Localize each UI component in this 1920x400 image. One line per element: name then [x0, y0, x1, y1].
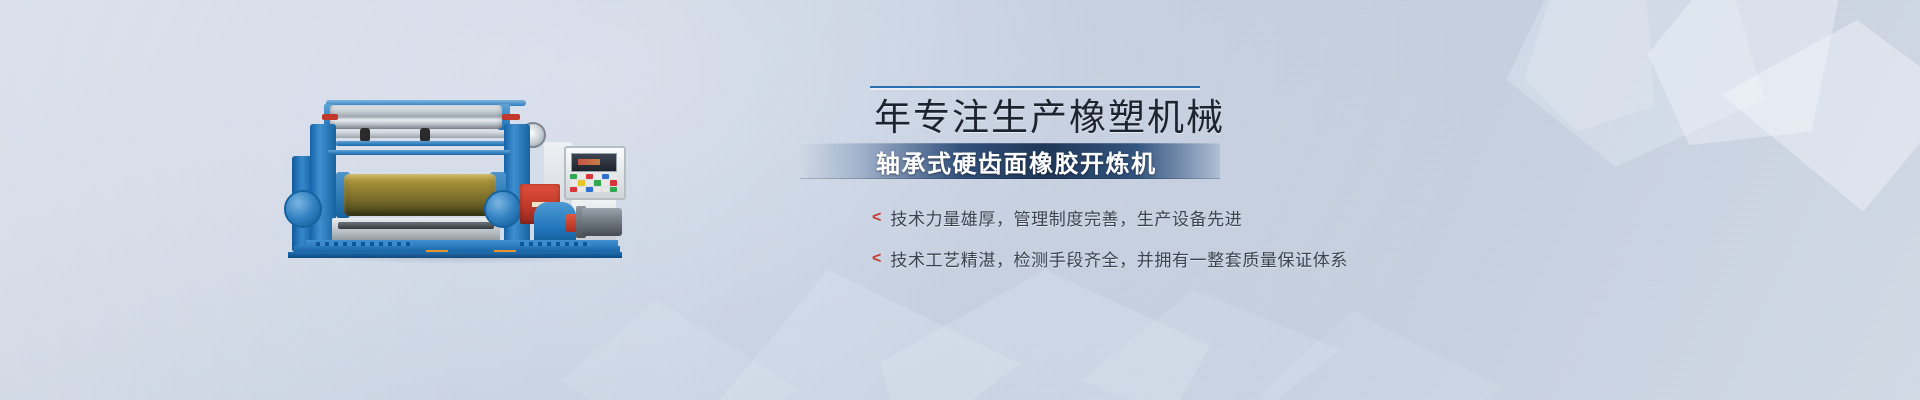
upper-blue-bar — [336, 141, 508, 146]
subtitle-bar: 轴承式硬齿面橡胶开炼机 — [800, 143, 1220, 179]
banner-subtitle: 轴承式硬齿面橡胶开炼机 — [876, 144, 1157, 179]
frame-brace — [328, 150, 510, 155]
decorative-facet-shape — [1260, 310, 1500, 400]
decorative-facet-shape — [560, 300, 800, 400]
bearing-housing-right — [484, 190, 522, 228]
bearing-housing-left — [284, 190, 322, 228]
bullet-text: 技术工艺精湛，检测手段齐全，并拥有一整套质量保证体系 — [890, 246, 1348, 271]
main-mixing-roll — [344, 174, 496, 216]
bullet-text: 技术力量雄厚，管理制度完善，生产设备先进 — [890, 205, 1242, 230]
decorative-facet-shape — [1714, 0, 1920, 245]
upper-knob — [420, 128, 430, 142]
top-stock-blender-roll — [330, 105, 502, 129]
headline-divider-rule — [870, 86, 1200, 88]
trough-bar — [338, 222, 494, 229]
feature-bullet-list: < 技术力量雄厚，管理制度完善，生产设备先进 < 技术工艺精湛，检测手段齐全，并… — [872, 205, 1560, 271]
list-item: < 技术工艺精湛，检测手段齐全，并拥有一整套质量保证体系 — [872, 246, 1560, 271]
banner-headline: 年专注生产橡塑机械 — [874, 98, 1560, 139]
upper-knob — [360, 128, 370, 142]
machine-shadow — [308, 254, 608, 264]
electric-motor — [582, 208, 622, 236]
decorative-facet-shape — [880, 270, 1210, 400]
top-roll-fitting-left — [322, 114, 338, 120]
chevron-left-icon: < — [872, 210, 881, 226]
banner-text-block: 年专注生产橡塑机械 轴承式硬齿面橡胶开炼机 < 技术力量雄厚，管理制度完善，生产… — [860, 86, 1560, 287]
console-display-screen — [571, 153, 617, 172]
decorative-facet-shape — [720, 270, 1020, 400]
list-item: < 技术力量雄厚，管理制度完善，生产设备先进 — [872, 205, 1560, 230]
product-image-rubber-mixing-mill — [288, 98, 622, 258]
decorative-facet-shape — [1615, 0, 1895, 192]
promo-banner: 年专注生产橡塑机械 轴承式硬齿面橡胶开炼机 < 技术力量雄厚，管理制度完善，生产… — [0, 0, 1920, 400]
decorative-facet-shape — [1080, 290, 1340, 400]
top-roll-fitting-right — [502, 114, 520, 120]
chevron-left-icon: < — [872, 251, 881, 267]
console-button-grid — [570, 174, 617, 192]
